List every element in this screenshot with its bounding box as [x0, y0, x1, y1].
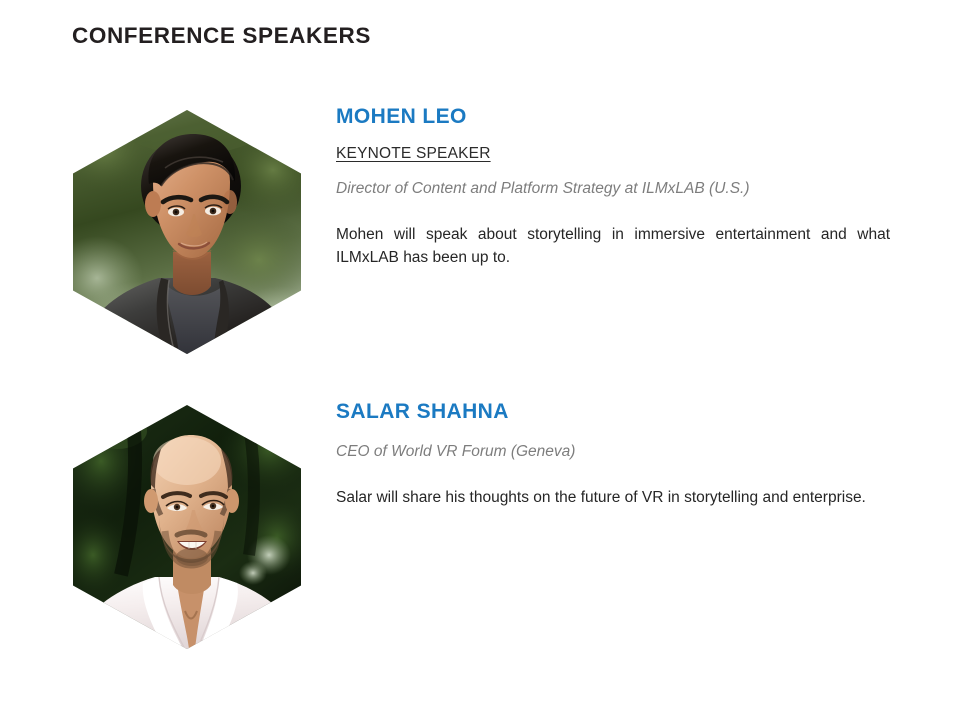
speaker-description-text: Salar will share his thoughts on the fut… — [336, 489, 866, 506]
speaker-role: KEYNOTE SPEAKER — [336, 144, 892, 164]
speaker-description-text: Mohen will speak about storytelling in i… — [336, 226, 890, 266]
portrait-image-1 — [73, 110, 301, 354]
speaker-affiliation: Director of Content and Platform Strateg… — [336, 178, 888, 200]
page-title: CONFERENCE SPEAKERS — [72, 22, 371, 49]
speaker-affiliation: CEO of World VR Forum (Geneva) — [336, 441, 888, 463]
speaker-description: Mohen will speak about storytelling in i… — [336, 223, 890, 270]
speaker-name: MOHEN LEO — [336, 104, 892, 130]
portrait-image-2 — [73, 405, 301, 649]
slide-canvas: CONFERENCE SPEAKERS — [0, 0, 958, 703]
speaker-description: Salar will share his thoughts on the fut… — [336, 486, 890, 509]
speaker-photo-2 — [73, 405, 301, 649]
speaker-name: SALAR SHAHNA — [336, 399, 892, 425]
speaker-info-1: MOHEN LEO KEYNOTE SPEAKER Director of Co… — [336, 104, 892, 269]
speaker-info-2: SALAR SHAHNA CEO of World VR Forum (Gene… — [336, 399, 892, 509]
speaker-role-label: KEYNOTE SPEAKER — [336, 145, 491, 162]
speaker-photo-1 — [73, 110, 301, 354]
